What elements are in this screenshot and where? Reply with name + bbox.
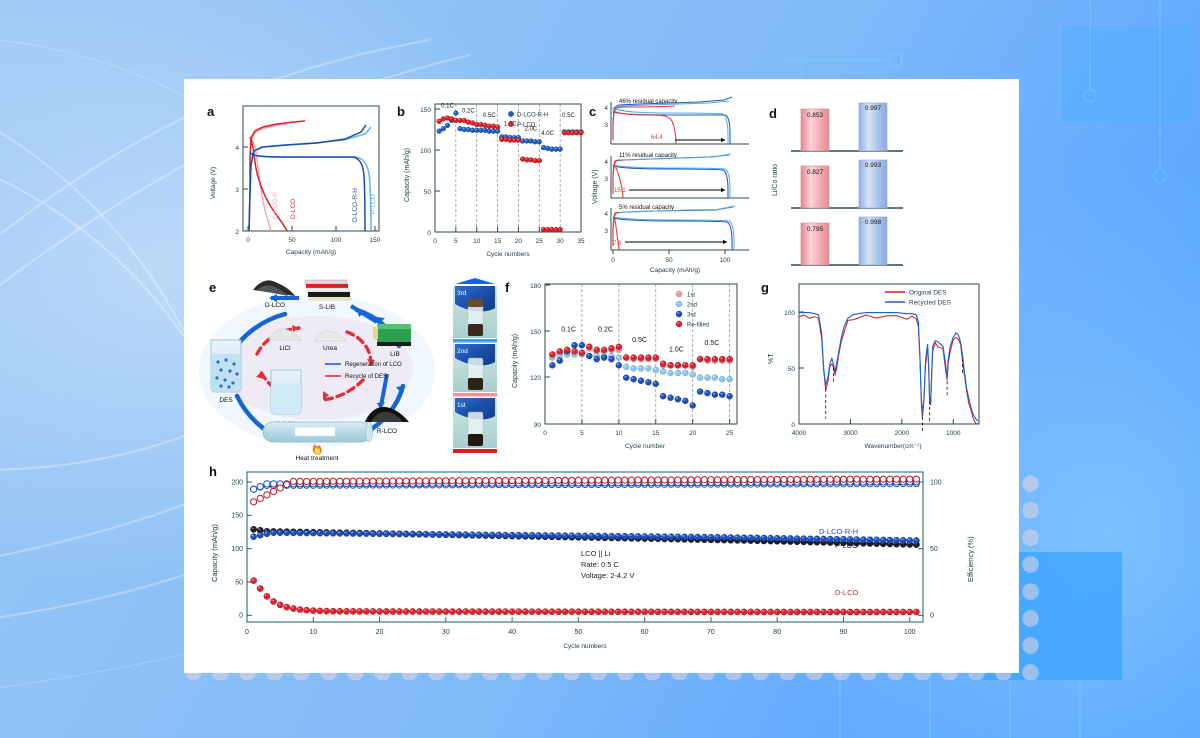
svg-text:100: 100	[784, 310, 795, 317]
svg-text:30: 30	[557, 238, 565, 245]
efficiency-point	[589, 477, 595, 483]
efficiency-point	[304, 478, 310, 484]
data-point	[304, 607, 310, 613]
data-point	[575, 609, 581, 615]
efficiency-point	[396, 478, 402, 484]
data-point	[469, 532, 475, 538]
data-point	[622, 533, 628, 539]
data-point	[445, 123, 450, 128]
panel-h: h 050100150200 050100 010203040506070809…	[199, 462, 1005, 662]
data-point	[363, 608, 369, 614]
svg-text:100: 100	[930, 479, 942, 486]
data-point	[615, 533, 621, 539]
panel-a-label: a	[207, 104, 214, 119]
data-point	[343, 530, 349, 536]
vial-bar-2nd	[453, 393, 497, 397]
svg-text:0: 0	[543, 430, 547, 437]
data-point	[616, 362, 622, 368]
data-point	[628, 533, 634, 539]
efficiency-point	[887, 476, 893, 482]
data-point	[682, 370, 688, 376]
svg-text:3: 3	[604, 228, 608, 235]
data-point	[476, 609, 482, 615]
data-point	[761, 535, 767, 541]
curve-label-p-lco: P-LCO	[835, 541, 858, 550]
svg-text:100: 100	[231, 546, 243, 553]
svg-text:150: 150	[530, 329, 541, 336]
svg-text:10: 10	[615, 430, 623, 437]
efficiency-point	[403, 478, 409, 484]
efficiency-point	[847, 476, 853, 482]
efficiency-point	[482, 478, 488, 484]
data-point	[714, 609, 720, 615]
panel-c: c 4 3 46% residual capacity 64.4	[589, 94, 761, 269]
efficiency-point	[317, 478, 323, 484]
panel-d-value-r3: 0.795	[807, 226, 824, 233]
data-point	[582, 609, 588, 615]
data-point	[357, 530, 363, 536]
svg-text:Capacity (mAh/g): Capacity (mAh/g)	[210, 524, 219, 582]
panel-g: g 0 50 100 4000300020001000 Wavenumber(c…	[755, 276, 1005, 461]
data-point	[586, 353, 592, 359]
efficiency-point	[416, 478, 422, 484]
svg-text:35: 35	[577, 238, 585, 245]
data-point	[900, 609, 906, 615]
efficiency-point	[350, 478, 356, 484]
efficiency-point	[840, 476, 846, 482]
svg-text:D-LCO: D-LCO	[290, 199, 297, 219]
efficiency-point	[270, 488, 276, 494]
data-point	[277, 530, 283, 536]
data-point	[615, 609, 621, 615]
svg-text:3: 3	[604, 176, 608, 183]
data-point	[668, 609, 674, 615]
efficiency-point	[277, 485, 283, 491]
svg-text:%T: %T	[768, 353, 775, 364]
efficiency-point	[628, 477, 634, 483]
efficiency-point	[251, 499, 257, 505]
efficiency-point	[297, 478, 303, 484]
svg-text:Capacity (mAh/g): Capacity (mAh/g)	[650, 267, 700, 274]
data-point	[645, 355, 651, 361]
data-point	[290, 605, 296, 611]
data-point	[820, 609, 826, 615]
data-point	[482, 609, 488, 615]
data-point	[840, 609, 846, 615]
data-point	[549, 609, 555, 615]
data-point	[628, 609, 634, 615]
svg-text:0: 0	[930, 613, 934, 620]
data-point	[403, 608, 409, 614]
data-point	[542, 532, 548, 538]
data-point	[827, 609, 833, 615]
data-point	[708, 534, 714, 540]
data-point	[681, 609, 687, 615]
efficiency-point	[701, 477, 707, 483]
data-point	[343, 608, 349, 614]
data-point	[712, 392, 718, 398]
data-point	[728, 609, 734, 615]
panel-b-label: b	[397, 104, 405, 119]
data-point	[509, 532, 515, 538]
data-point	[495, 125, 500, 130]
efficiency-point	[648, 477, 654, 483]
curve-label-d-lco: D-LCO	[835, 588, 859, 597]
svg-text:Wavenumber(cm⁻¹): Wavenumber(cm⁻¹)	[864, 443, 921, 450]
vial-photos: 3rd 2nd 1st	[453, 278, 497, 458]
panel-d-value-b3: 0.998	[865, 219, 882, 226]
data-point	[690, 362, 696, 368]
data-point	[807, 536, 813, 542]
data-point	[801, 536, 807, 542]
svg-text:5: 5	[580, 430, 584, 437]
data-point	[774, 609, 780, 615]
data-point	[601, 355, 607, 361]
data-point	[719, 392, 725, 398]
data-point	[675, 609, 681, 615]
data-point	[350, 608, 356, 614]
efficiency-point	[449, 478, 455, 484]
data-point	[712, 356, 718, 362]
efficiency-point	[529, 477, 535, 483]
data-point	[579, 350, 585, 356]
data-point	[676, 321, 682, 327]
svg-text:Cycle numbers: Cycle numbers	[486, 251, 530, 258]
data-point	[555, 533, 561, 539]
panel-e-caption: Heat treatment	[296, 455, 339, 462]
svg-text:100: 100	[904, 629, 916, 636]
data-point	[754, 535, 760, 541]
data-point	[668, 395, 674, 401]
data-point	[536, 532, 542, 538]
svg-text:0: 0	[245, 629, 249, 636]
data-point	[558, 147, 563, 152]
data-point	[638, 355, 644, 361]
efficiency-point	[907, 476, 913, 482]
data-point	[257, 585, 263, 591]
data-point	[594, 356, 600, 362]
data-point	[251, 534, 257, 540]
efficiency-point	[767, 476, 773, 482]
svg-text:Voltage (V): Voltage (V)	[210, 167, 217, 199]
efficiency-point	[251, 486, 257, 492]
data-point	[602, 609, 608, 615]
vial-bar-3rd	[453, 339, 497, 343]
efficiency-point	[761, 476, 767, 482]
svg-text:2000: 2000	[895, 430, 910, 437]
svg-text:150: 150	[231, 513, 243, 520]
data-point	[668, 370, 674, 376]
efficiency-point	[893, 476, 899, 482]
panel-d-label: d	[769, 106, 777, 121]
data-point	[449, 608, 455, 614]
data-point	[586, 344, 592, 350]
efficiency-point	[820, 476, 826, 482]
data-point	[502, 609, 508, 615]
panel-b-chart: 0 50 100 150 05101520253035 Cycle number…	[393, 94, 589, 269]
svg-text:4: 4	[604, 105, 608, 112]
data-point	[529, 532, 535, 538]
efficiency-point	[264, 492, 270, 498]
svg-text:15: 15	[652, 430, 660, 437]
svg-text:Cycle numbers: Cycle numbers	[563, 643, 607, 650]
data-point	[569, 609, 575, 615]
data-point	[704, 375, 710, 381]
efficiency-point	[555, 477, 561, 483]
panel-e: e	[199, 276, 449, 461]
data-point	[264, 531, 270, 537]
data-point	[489, 532, 495, 538]
data-point	[537, 158, 542, 163]
efficiency-point	[270, 481, 276, 487]
data-point	[867, 537, 873, 543]
efficiency-point	[827, 476, 833, 482]
panel-c-value-3: 7.6	[613, 241, 622, 247]
data-point	[697, 389, 703, 395]
svg-text:100: 100	[720, 257, 731, 264]
data-point	[887, 609, 893, 615]
data-point	[529, 609, 535, 615]
efficiency-point	[423, 478, 429, 484]
data-point	[638, 365, 644, 371]
data-point	[787, 609, 793, 615]
efficiency-point	[383, 478, 389, 484]
data-point	[456, 608, 462, 614]
efficiency-point	[330, 478, 336, 484]
efficiency-point	[728, 477, 734, 483]
data-point	[801, 609, 807, 615]
efficiency-point	[522, 477, 528, 483]
data-point	[655, 534, 661, 540]
data-point	[363, 531, 369, 537]
panel-e-label: e	[209, 280, 216, 295]
rate-label: 4.0C	[541, 131, 554, 137]
svg-text:50: 50	[235, 579, 243, 586]
efficiency-point	[708, 477, 714, 483]
svg-text:Capacity (mAh/g): Capacity (mAh/g)	[512, 334, 519, 388]
data-point	[330, 530, 336, 536]
data-point	[675, 396, 681, 402]
efficiency-point	[675, 477, 681, 483]
svg-text:Cycle number: Cycle number	[625, 443, 666, 450]
data-point	[601, 347, 607, 353]
data-point	[827, 536, 833, 542]
data-point	[675, 370, 681, 376]
data-point	[310, 608, 316, 614]
efficiency-point	[781, 476, 787, 482]
svg-text:0: 0	[239, 613, 243, 620]
svg-text:70: 70	[707, 629, 715, 636]
panel-e-node-lib: LIB	[390, 351, 400, 358]
efficiency-point	[608, 477, 614, 483]
rate-label: 1.0C	[669, 346, 684, 353]
efficiency-point	[874, 476, 880, 482]
svg-text:0: 0	[427, 230, 431, 237]
data-point	[690, 402, 696, 408]
data-point	[297, 530, 303, 536]
panel-e-node-s-lib: S-LIB	[319, 304, 335, 311]
data-point	[582, 533, 588, 539]
data-point	[304, 530, 310, 536]
panel-e-photo-insets: 3rd 2nd 1st	[453, 278, 497, 458]
data-point	[880, 537, 886, 543]
svg-text:50: 50	[424, 189, 432, 196]
data-point	[376, 608, 382, 614]
rate-label: 0.5C	[483, 113, 496, 119]
svg-text:50: 50	[288, 237, 296, 244]
data-point	[660, 368, 666, 374]
data-point	[794, 535, 800, 541]
data-point	[383, 608, 389, 614]
panel-e-node-urea: Urea	[323, 345, 337, 352]
data-point	[569, 533, 575, 539]
data-point	[542, 609, 548, 615]
data-point	[370, 531, 376, 537]
svg-text:25: 25	[536, 238, 544, 245]
legend-label: 1st	[687, 292, 695, 298]
data-point	[645, 365, 651, 371]
vial-label-2nd: 2nd	[457, 348, 468, 355]
svg-text:4: 4	[604, 159, 608, 166]
data-point	[579, 130, 584, 135]
data-point	[284, 604, 290, 610]
data-point	[874, 537, 880, 543]
efficiency-point	[337, 478, 343, 484]
data-point	[270, 598, 276, 604]
svg-text:4: 4	[604, 211, 608, 218]
efficiency-point	[721, 477, 727, 483]
svg-text:3: 3	[235, 187, 239, 194]
data-point	[317, 608, 323, 614]
data-point	[645, 379, 651, 385]
curve-label-d-lco-r-h: D-LCO-R-H	[819, 527, 858, 536]
data-point	[860, 537, 866, 543]
svg-text:0: 0	[433, 238, 437, 245]
data-point	[847, 609, 853, 615]
data-point	[727, 376, 733, 382]
panel-e-legend-2: Recycle of DES	[345, 374, 387, 380]
data-point	[423, 531, 429, 537]
panel-d-value-b2: 0.993	[865, 162, 882, 169]
data-point	[436, 608, 442, 614]
data-point	[721, 534, 727, 540]
data-point	[463, 608, 469, 614]
efficiency-point	[655, 477, 661, 483]
data-point	[396, 608, 402, 614]
svg-text:4: 4	[235, 145, 239, 152]
efficiency-point	[310, 478, 316, 484]
data-point	[688, 609, 694, 615]
data-point	[820, 536, 826, 542]
rate-label: 0.2C	[462, 108, 475, 114]
panel-a: a 2 3 4	[199, 94, 389, 269]
efficiency-point	[410, 478, 416, 484]
efficiency-point	[469, 478, 475, 484]
svg-text:Capacity (mAh/g): Capacity (mAh/g)	[404, 148, 411, 202]
efficiency-point	[496, 477, 502, 483]
data-point	[748, 535, 754, 541]
efficiency-point	[834, 476, 840, 482]
efficiency-point	[913, 476, 919, 482]
svg-text:4000: 4000	[792, 430, 807, 437]
data-point	[589, 533, 595, 539]
data-point	[608, 345, 614, 351]
efficiency-point	[549, 477, 555, 483]
legend-label: 2nd	[687, 302, 697, 308]
data-point	[522, 532, 528, 538]
efficiency-point	[575, 477, 581, 483]
svg-text:2: 2	[235, 229, 239, 236]
legend-label: Recycled DES	[909, 299, 952, 306]
efficiency-point	[390, 478, 396, 484]
data-point	[410, 608, 416, 614]
data-point	[489, 609, 495, 615]
efficiency-point	[860, 476, 866, 482]
efficiency-point	[635, 477, 641, 483]
efficiency-point	[536, 477, 542, 483]
data-point	[907, 609, 913, 615]
data-point	[251, 578, 257, 584]
data-point	[631, 365, 637, 371]
efficiency-point	[595, 477, 601, 483]
efficiency-point	[290, 478, 296, 484]
svg-text:D-LCO-R-H: D-LCO-R-H	[517, 113, 548, 119]
data-point	[594, 347, 600, 353]
curve-recycled-des	[799, 313, 978, 422]
efficiency-point	[688, 477, 694, 483]
data-point	[557, 348, 563, 354]
efficiency-point	[363, 478, 369, 484]
data-point	[608, 356, 614, 362]
data-point	[337, 530, 343, 536]
efficiency-point	[370, 478, 376, 484]
data-point	[860, 609, 866, 615]
panel-c-residual-3: 5% residual capacity	[619, 205, 674, 211]
svg-text:0: 0	[611, 257, 615, 264]
data-point	[443, 531, 449, 537]
panel-c-value-2: 15.1	[614, 188, 626, 194]
data-point	[496, 532, 502, 538]
data-point	[463, 532, 469, 538]
efficiency-point	[542, 477, 548, 483]
data-point	[900, 537, 906, 543]
data-point	[807, 609, 813, 615]
rate-label: 0.5C	[704, 340, 719, 347]
rate-label: 0.2C	[598, 326, 613, 333]
data-point	[516, 609, 522, 615]
panel-f-chart: 90 120 150 180 0510152025 Cycle number C…	[501, 276, 751, 461]
data-point	[704, 356, 710, 362]
efficiency-point	[456, 478, 462, 484]
data-point	[867, 609, 873, 615]
data-point	[453, 111, 458, 116]
data-point	[653, 381, 659, 387]
data-point	[608, 609, 614, 615]
data-point	[284, 530, 290, 536]
data-point	[469, 608, 475, 614]
vial-label-1st: 1st	[457, 402, 466, 409]
panel-h-label: h	[209, 464, 217, 479]
panel-h-chart: 050100150200 050100 01020304050607080901…	[199, 462, 1005, 662]
svg-text:10: 10	[309, 629, 317, 636]
panel-h-annotation: Rate: 0.5 C	[581, 560, 620, 569]
data-point	[682, 362, 688, 368]
svg-text:50: 50	[930, 546, 938, 553]
data-point	[549, 532, 555, 538]
data-point	[555, 609, 561, 615]
efficiency-point	[264, 481, 270, 487]
data-point	[676, 301, 682, 307]
